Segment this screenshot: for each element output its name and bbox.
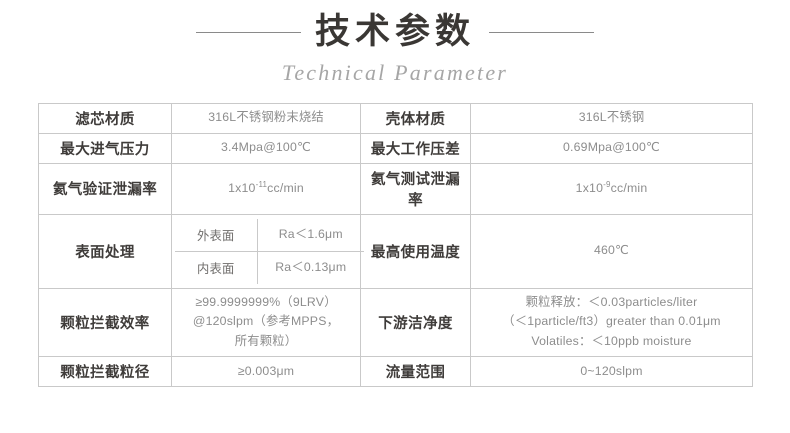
row-value-downstream-cleanliness: 颗粒释放：＜0.03particles/liter （＜1particle/ft… (471, 288, 753, 357)
value-line: Volatiles：＜10ppb moisture (474, 332, 749, 352)
row-value-max-inlet-pressure: 3.4Mpa@100℃ (172, 133, 361, 163)
row-value-helium-verify-leak-rate: 1x10-11cc/min (172, 163, 361, 214)
table-row: 最大进气压力 3.4Mpa@100℃ 最大工作压差 0.69Mpa@100℃ (39, 133, 753, 163)
row-label-helium-verify-leak-rate: 氦气验证泄漏率 (39, 163, 172, 214)
row-value-shell-material: 316L不锈钢 (471, 103, 753, 133)
leak-rate-unit: cc/min (611, 181, 648, 195)
surface-treatment-subtable-host: 外表面 Ra＜1.6μm 内表面 Ra＜0.13μm (172, 214, 361, 288)
title-rule-left (196, 32, 301, 33)
row-label-shell-material: 壳体材质 (361, 103, 471, 133)
sub-value-inner-surface: Ra＜0.13μm (257, 251, 364, 283)
value-line: 所有颗粒） (175, 332, 357, 352)
page-title: 技术参数 (313, 14, 477, 51)
row-value-particle-retention-efficiency: ≥99.9999999%（9LRV） @120slpm（参考MPPS， 所有颗粒… (172, 288, 361, 357)
table-row: 颗粒拦截粒径 ≥0.003μm 流量范围 0~120slpm (39, 357, 753, 387)
row-value-particle-retention-size: ≥0.003μm (172, 357, 361, 387)
row-label-max-operating-temperature: 最高使用温度 (361, 214, 471, 288)
table-row: 滤芯材质 316L不锈钢粉末烧结 壳体材质 316L不锈钢 (39, 103, 753, 133)
row-value-flow-range: 0~120slpm (471, 357, 753, 387)
row-label-surface-treatment: 表面处理 (39, 214, 172, 288)
row-label-filter-material: 滤芯材质 (39, 103, 172, 133)
row-value-max-working-pressure-diff: 0.69Mpa@100℃ (471, 133, 753, 163)
value-line: @120slpm（参考MPPS， (175, 312, 357, 332)
leak-rate-exponent: -11 (256, 180, 268, 189)
row-label-downstream-cleanliness: 下游洁净度 (361, 288, 471, 357)
leak-rate-base: 1x10 (228, 181, 255, 195)
row-label-helium-test-leak-rate: 氦气测试泄漏率 (361, 163, 471, 214)
sub-label-inner-surface: 内表面 (175, 251, 257, 283)
subtable-row: 内表面 Ra＜0.13μm (175, 251, 364, 283)
row-label-max-inlet-pressure: 最大进气压力 (39, 133, 172, 163)
surface-treatment-subtable: 外表面 Ra＜1.6μm 内表面 Ra＜0.13μm (175, 219, 364, 284)
sub-label-outer-surface: 外表面 (175, 219, 257, 251)
table-row: 颗粒拦截效率 ≥99.9999999%（9LRV） @120slpm（参考MPP… (39, 288, 753, 357)
subtable-row: 外表面 Ra＜1.6μm (175, 219, 364, 251)
leak-rate-unit: cc/min (267, 181, 304, 195)
row-value-max-operating-temperature: 460℃ (471, 214, 753, 288)
row-value-helium-test-leak-rate: 1x10-9cc/min (471, 163, 753, 214)
spec-table: 滤芯材质 316L不锈钢粉末烧结 壳体材质 316L不锈钢 最大进气压力 3.4… (38, 103, 753, 388)
value-line: （＜1particle/ft3）greater than 0.01μm (474, 312, 749, 332)
leak-rate-exponent: -9 (603, 180, 611, 189)
page-header: 技术参数 Technical Parameter (0, 0, 790, 86)
value-line: 颗粒释放：＜0.03particles/liter (474, 293, 749, 313)
table-row: 氦气验证泄漏率 1x10-11cc/min 氦气测试泄漏率 1x10-9cc/m… (39, 163, 753, 214)
row-label-particle-retention-size: 颗粒拦截粒径 (39, 357, 172, 387)
title-rule-right (489, 32, 594, 33)
row-label-flow-range: 流量范围 (361, 357, 471, 387)
leak-rate-base: 1x10 (576, 181, 603, 195)
row-label-particle-retention-efficiency: 颗粒拦截效率 (39, 288, 172, 357)
sub-value-outer-surface: Ra＜1.6μm (257, 219, 364, 251)
value-line: ≥99.9999999%（9LRV） (175, 293, 357, 313)
spec-table-wrapper: 滤芯材质 316L不锈钢粉末烧结 壳体材质 316L不锈钢 最大进气压力 3.4… (38, 103, 752, 388)
row-value-filter-material: 316L不锈钢粉末烧结 (172, 103, 361, 133)
row-label-max-working-pressure-diff: 最大工作压差 (361, 133, 471, 163)
page-subtitle: Technical Parameter (0, 60, 790, 86)
table-row: 表面处理 外表面 Ra＜1.6μm (39, 214, 753, 288)
title-row: 技术参数 (0, 14, 790, 51)
